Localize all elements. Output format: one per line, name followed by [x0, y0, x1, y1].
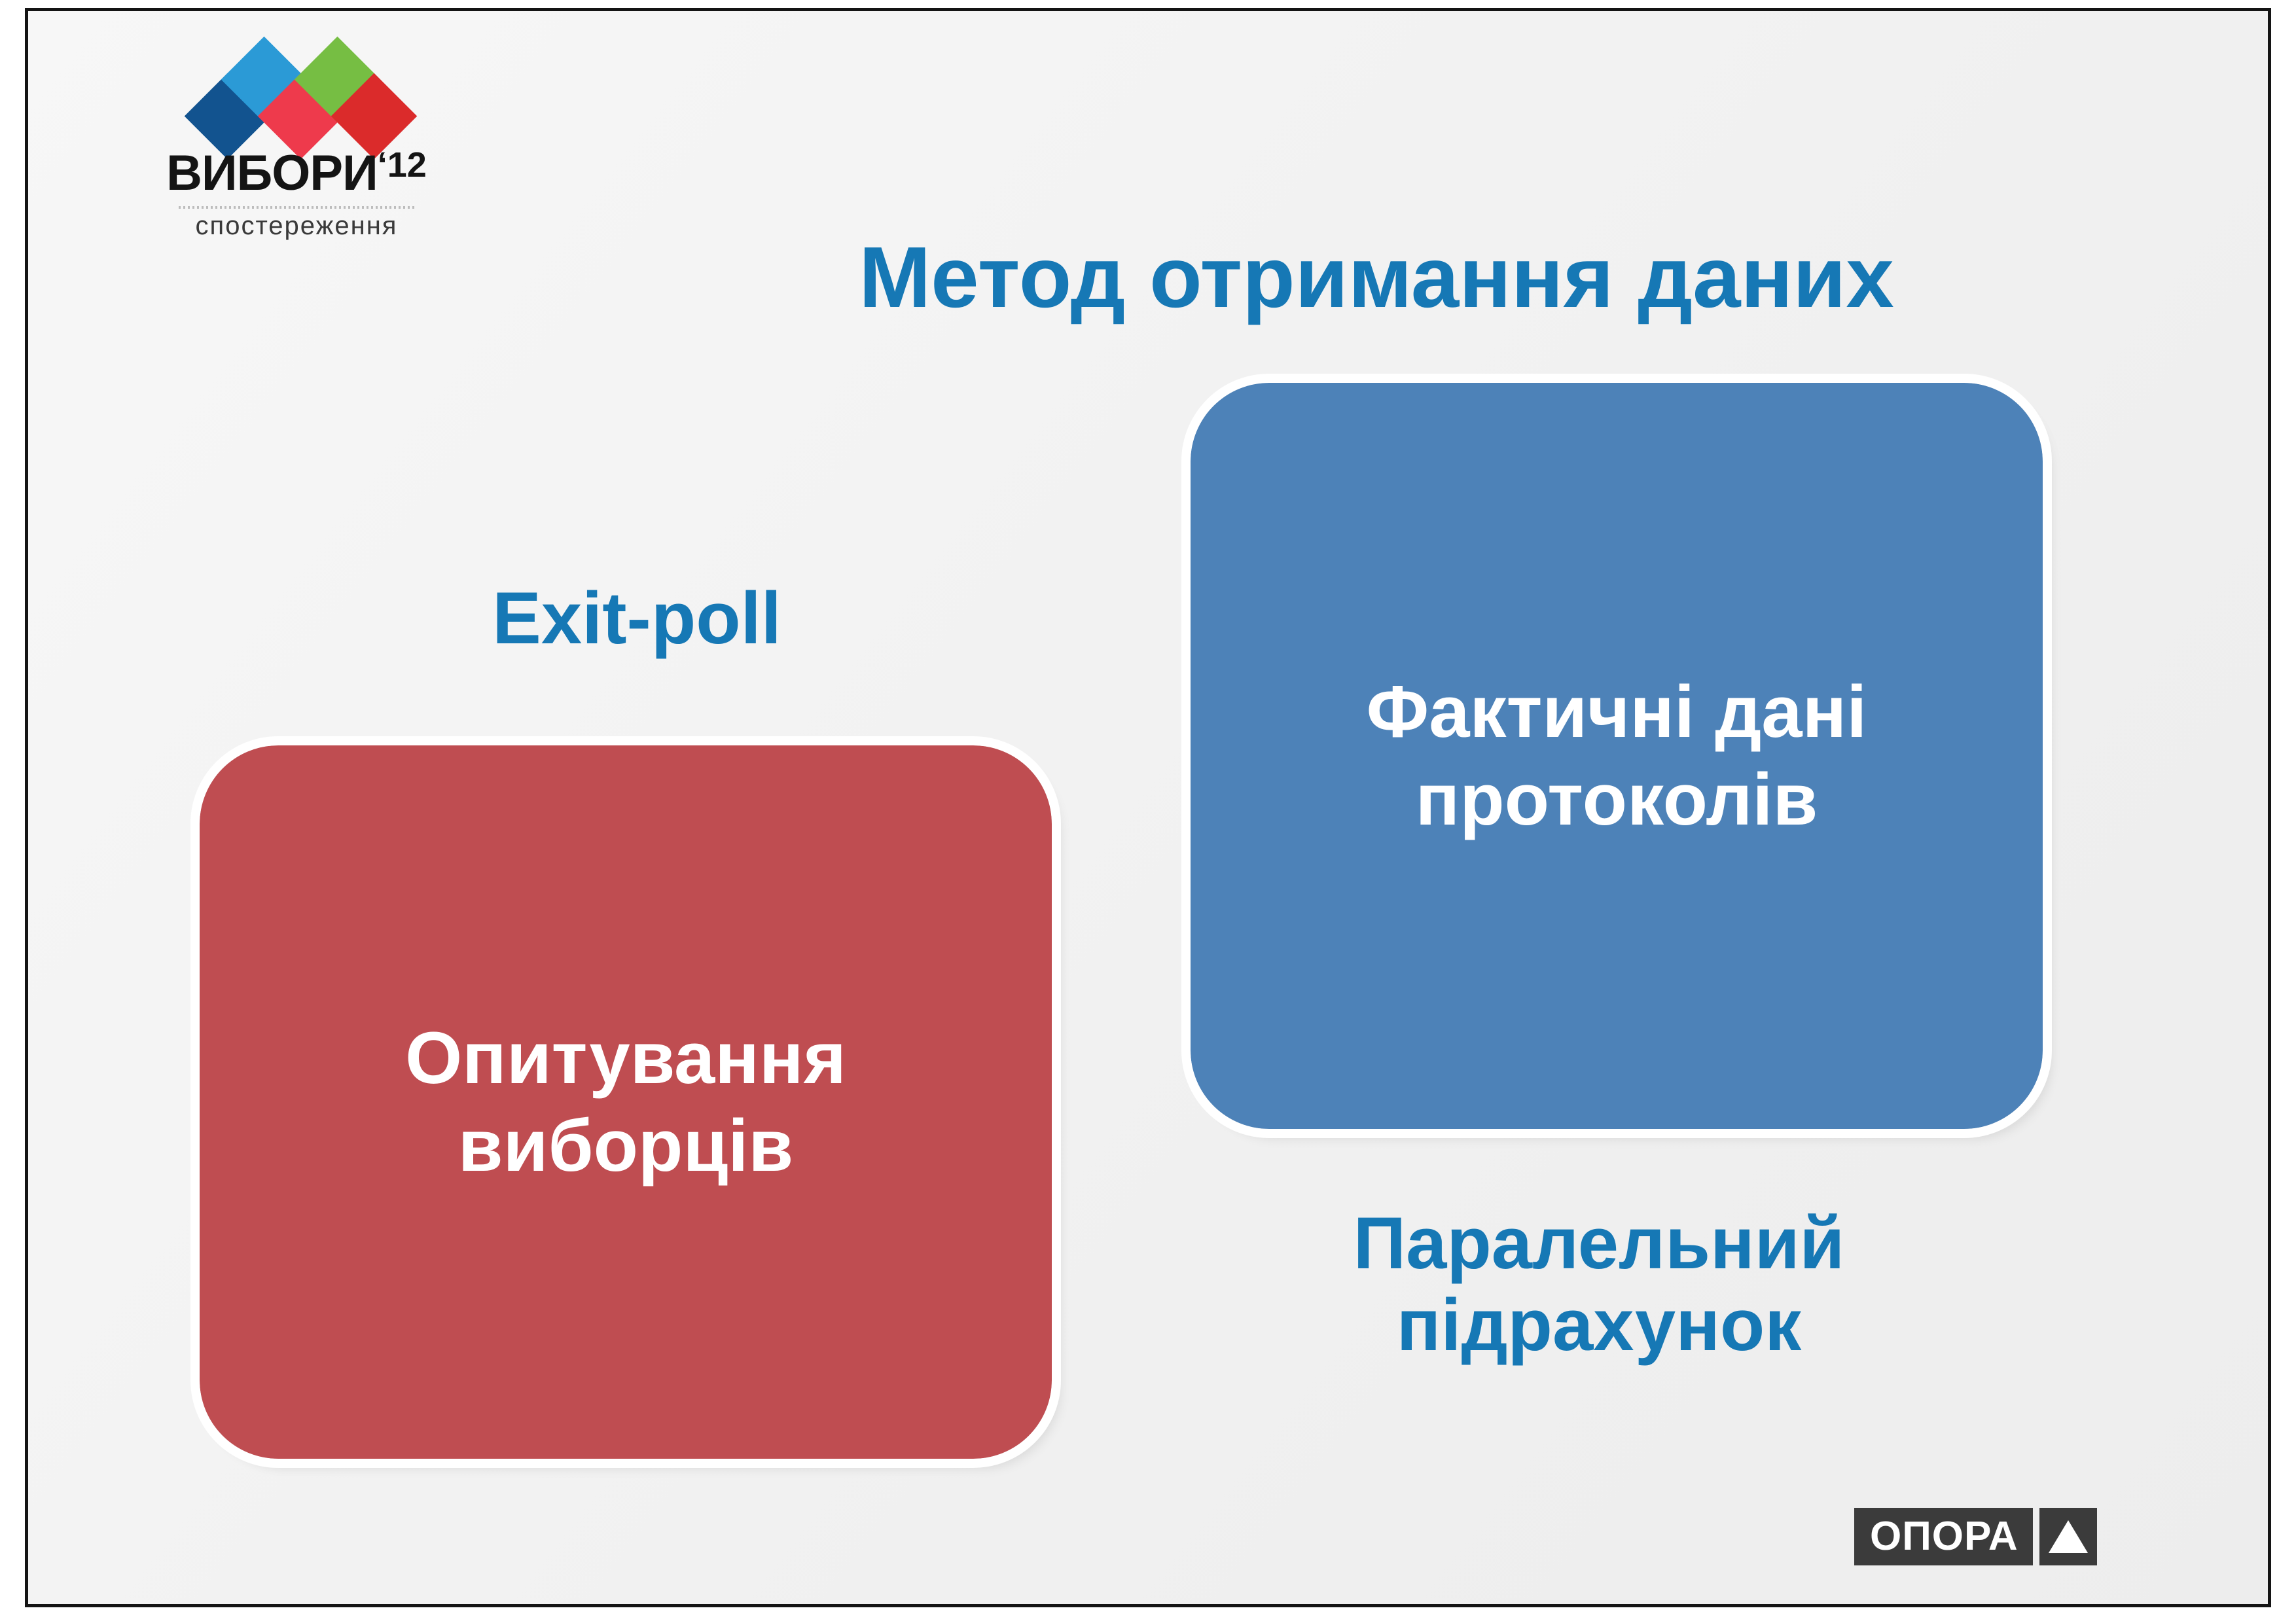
exit-poll-caption: Exit-poll [310, 577, 964, 659]
slide-title: Метод отримання даних [656, 232, 2096, 323]
logo-wordmark-text: ВИБОРИ [166, 145, 378, 201]
logo-diamonds-group [190, 43, 400, 151]
logo-wordmark-year: ‘12 [378, 145, 427, 185]
parallel-count-caption: Паралельний підрахунок [1200, 1202, 1998, 1366]
method-box-voter-survey: Опитування виборців [200, 745, 1052, 1459]
vybory-12-logo: ВИБОРИ‘12 спостереження [166, 37, 427, 273]
opora-wordmark: ОПОРА [1854, 1508, 2033, 1565]
slide-frame: ВИБОРИ‘12 спостереження Метод отримання … [25, 8, 2271, 1607]
method-box-voter-survey-text: Опитування виборців [200, 1014, 1052, 1190]
method-box-protocol-data: Фактичні дані протоколів [1191, 383, 2043, 1129]
logo-divider [179, 206, 416, 209]
logo-subtitle: спостереження [166, 211, 427, 241]
opora-logo: ОПОРА [1854, 1508, 2097, 1565]
triangle-glyph [2049, 1520, 2088, 1553]
opora-triangle-icon [2039, 1508, 2097, 1565]
logo-wordmark: ВИБОРИ‘12 [166, 147, 427, 198]
method-box-protocol-data-text: Фактичні дані протоколів [1191, 668, 2043, 844]
